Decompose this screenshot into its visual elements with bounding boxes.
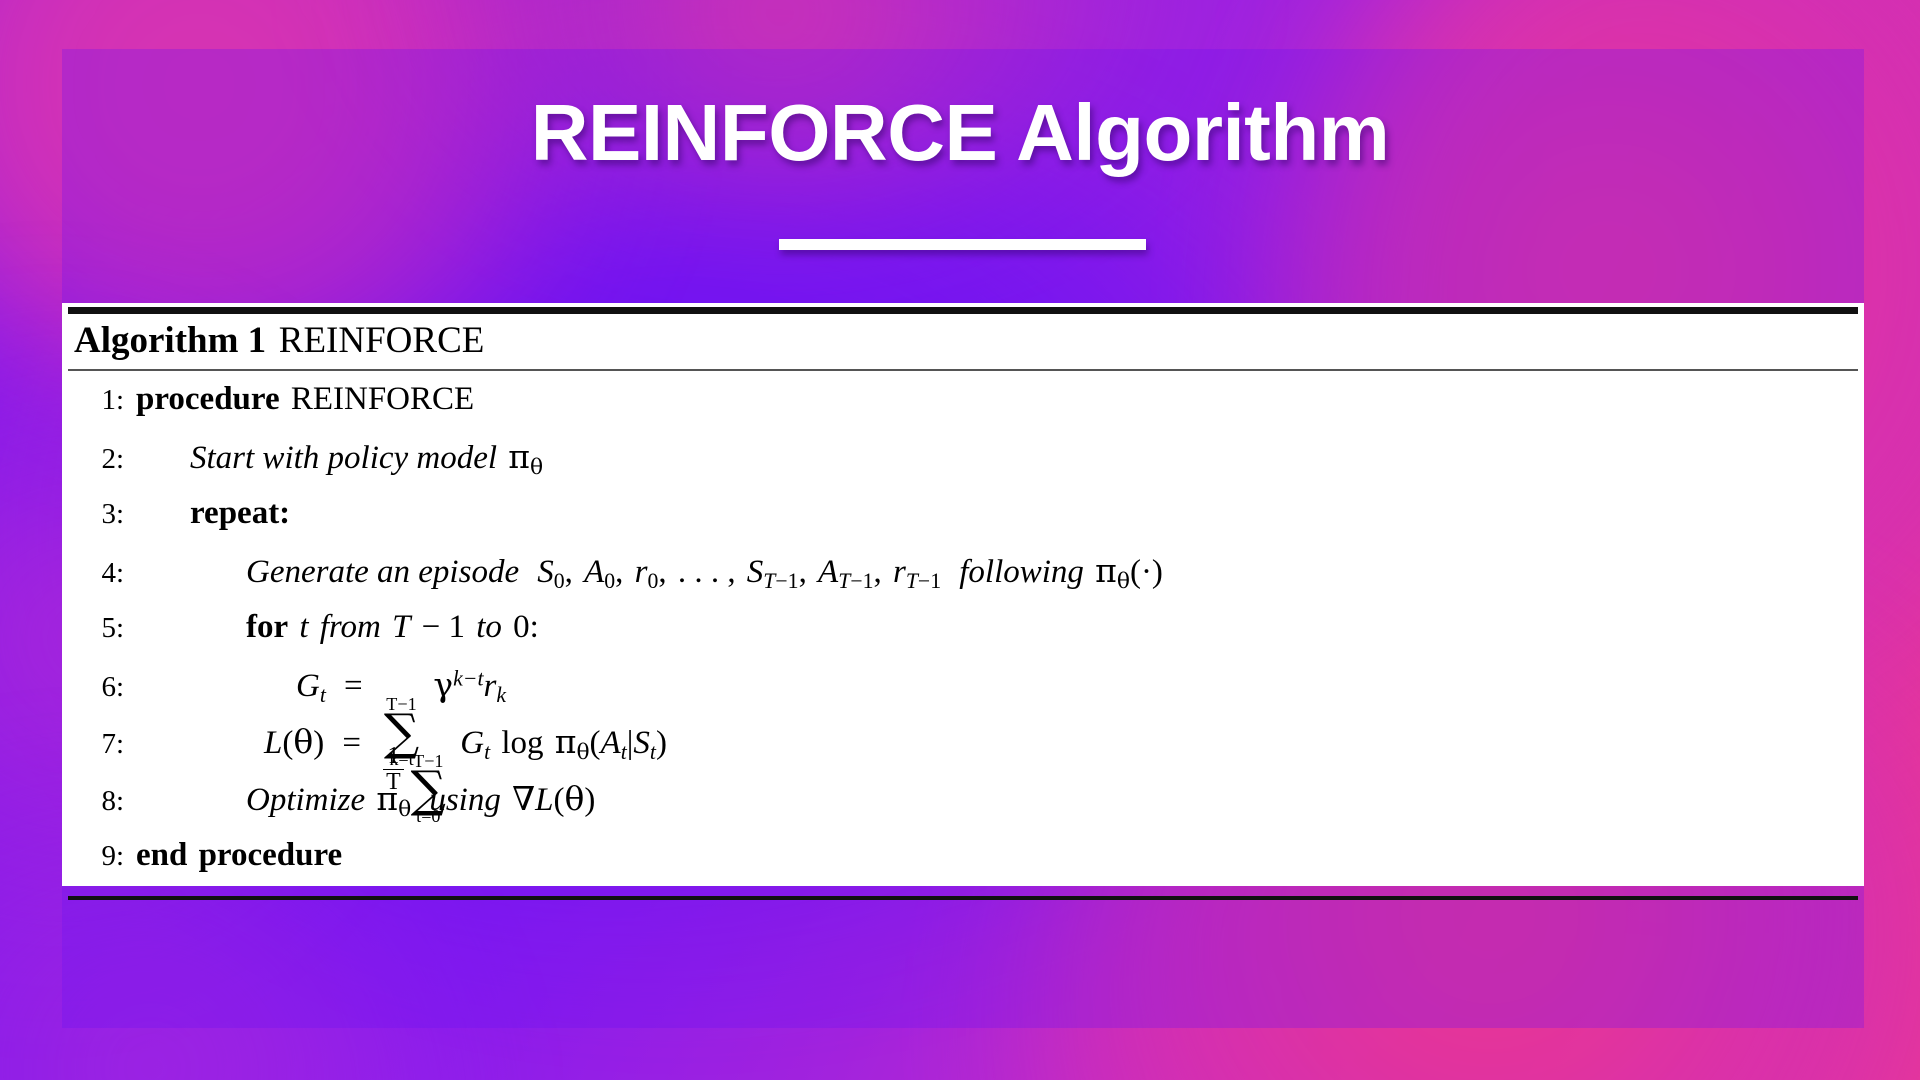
algorithm-line: 2: Start with policy modelπθ	[62, 434, 1864, 491]
keyword-procedure: procedure	[136, 381, 280, 417]
algorithm-caption-name: REINFORCE	[279, 320, 485, 361]
line-number: 1:	[62, 380, 136, 420]
symbol-A: A	[584, 554, 604, 590]
symbol-theta: θ	[530, 455, 543, 480]
line-number: 5:	[62, 608, 136, 648]
text-to: to	[476, 609, 502, 645]
algorithm-line: 7: L(θ)=1TT−1∑t=0Gtlogπθ(At|St)	[62, 719, 1864, 776]
symbol-r: r	[893, 554, 906, 590]
algorithm-caption-label: Algorithm 1	[74, 320, 266, 361]
symbol-pi: π	[555, 722, 577, 761]
line-number: 2:	[62, 439, 136, 479]
symbol-theta: θ	[576, 740, 589, 765]
symbol-pi: π	[376, 779, 398, 818]
algorithm-line: 8: Optimizeπθusing∇L(θ)	[62, 776, 1864, 833]
symbol-theta: θ	[398, 797, 411, 822]
title-underline-bar	[779, 239, 1146, 250]
operator-equals: =	[342, 725, 361, 761]
algorithm-line: 4: Generate an episodeS0,A0,r0,. . . ,ST…	[62, 548, 1864, 605]
symbol-A: A	[818, 554, 838, 590]
symbol-pi: π	[508, 437, 530, 476]
proc-name-reinforce: REINFORCE	[291, 381, 474, 417]
algorithm-box: Algorithm 1REINFORCE 1: procedureREINFOR…	[62, 303, 1864, 886]
symbol-A: A	[601, 725, 621, 761]
keyword-for: for	[246, 609, 288, 645]
keyword-end-procedure: procedure	[199, 837, 343, 873]
algorithm-bottom-rule	[68, 896, 1858, 900]
symbol-cdot-arg: (·)	[1130, 554, 1163, 590]
operator-equals: =	[344, 668, 363, 704]
line-number: 9:	[62, 836, 136, 876]
line-number: 3:	[62, 494, 136, 534]
symbol-theta: θ	[564, 779, 584, 818]
keyword-end: end	[136, 837, 187, 873]
algorithm-caption: Algorithm 1REINFORCE	[62, 314, 1864, 369]
symbol-G: G	[296, 668, 320, 704]
symbol-S: S	[633, 725, 650, 761]
algorithm-line: 1: procedureREINFORCE	[62, 377, 1864, 434]
line-body: Start with policy modelπθ	[136, 434, 1864, 483]
symbol-pi: π	[1095, 551, 1117, 590]
text-start-with-policy-model: Start with policy model	[190, 440, 497, 476]
algorithm-line: 6: Gt=T−1∑k=tγk−trk	[62, 662, 1864, 719]
text-generate-an-episode: Generate an episode	[246, 554, 519, 590]
line-number: 7:	[62, 724, 136, 764]
text-from: from	[320, 609, 381, 645]
text-following: following	[959, 554, 1084, 590]
symbol-theta: θ	[293, 722, 313, 761]
symbol-r: r	[635, 554, 648, 590]
operator-log: log	[501, 725, 543, 761]
fraction-numerator: 1	[384, 744, 402, 769]
algorithm-line: 9: endprocedure	[62, 833, 1864, 890]
symbol-r: r	[484, 668, 497, 704]
symbol-nabla: ∇	[512, 779, 535, 818]
line-number: 8:	[62, 781, 136, 821]
symbol-theta: θ	[1117, 569, 1130, 594]
text-optimize: Optimize	[246, 782, 365, 818]
line-body: endprocedure	[136, 833, 1864, 879]
algorithm-line: 3: repeat:	[62, 491, 1864, 548]
symbol-T: T	[392, 609, 410, 645]
symbol-S: S	[537, 554, 554, 590]
symbol-t: t	[299, 609, 308, 645]
symbol-S: S	[747, 554, 764, 590]
expr-minus-one: − 1	[422, 609, 465, 645]
slide-title-block: REINFORCE Algorithm	[0, 92, 1920, 174]
line-number: 4:	[62, 553, 136, 593]
symbol-gamma: γ	[433, 665, 453, 704]
page-title: REINFORCE Algorithm	[531, 92, 1390, 174]
symbol-G: G	[460, 725, 484, 761]
line-body: procedureREINFORCE	[136, 377, 1864, 423]
line-number: 6:	[62, 667, 136, 707]
line-body: Generate an episodeS0,A0,r0,. . . ,ST−1,…	[136, 548, 1864, 597]
symbol-L: L	[535, 782, 553, 818]
value-zero: 0:	[513, 609, 539, 645]
line-body: repeat:	[136, 491, 1864, 537]
keyword-repeat: repeat:	[190, 495, 290, 531]
symbol-L: L	[264, 725, 282, 761]
line-body: fortfromT− 1to0:	[136, 605, 1864, 651]
text-using: using	[429, 782, 501, 818]
ellipsis: . . . ,	[678, 554, 736, 590]
line-body: Optimizeπθusing∇L(θ)	[136, 776, 1864, 825]
algorithm-lines: 1: procedureREINFORCE 2: Start with poli…	[62, 371, 1864, 890]
algorithm-line: 5: fortfromT− 1to0:	[62, 605, 1864, 662]
